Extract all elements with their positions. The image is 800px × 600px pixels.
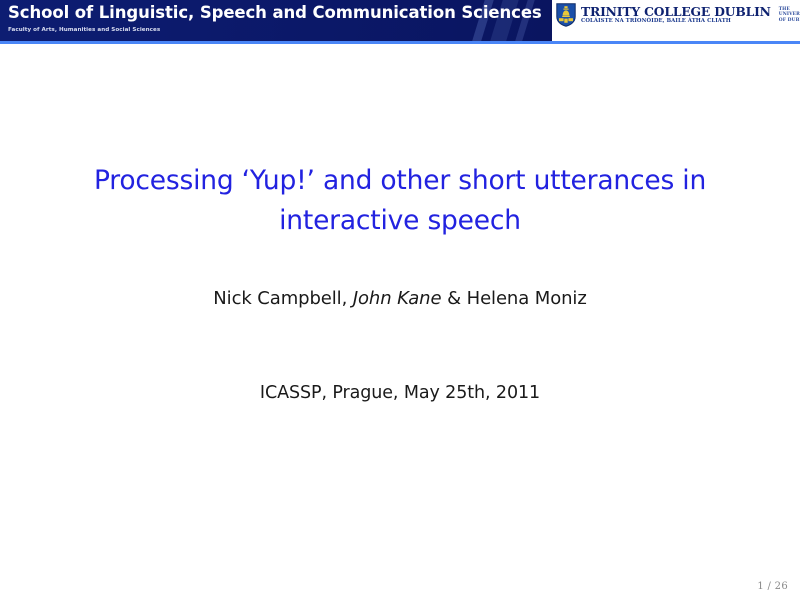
slide-title: Processing ‘Yup!’ and other short uttera… — [60, 161, 740, 241]
slide-title-line-2: interactive speech — [60, 201, 740, 241]
venue-line: ICASSP, Prague, May 25th, 2011 — [60, 383, 740, 403]
slide-body: Processing ‘Yup!’ and other short uttera… — [0, 44, 800, 600]
page-number: 1 / 26 — [757, 581, 788, 592]
authors-suffix: & Helena Moniz — [441, 288, 586, 309]
university-line-3: OF DUBLIN — [779, 18, 800, 24]
authors-line: Nick Campbell, John Kane & Helena Moniz — [60, 288, 740, 309]
authors-prefix: Nick Campbell, — [213, 288, 353, 309]
tcd-wordmark: TRINITY COLLEGE DUBLIN COLÁISTE NA TRÍON… — [581, 5, 771, 25]
school-title: School of Linguistic, Speech and Communi… — [8, 3, 542, 22]
faculty-subtitle: Faculty of Arts, Humanities and Social S… — [8, 27, 160, 33]
tcd-irish-name: COLÁISTE NA TRÍONÓIDE, BAILE ÁTHA CLIATH — [581, 18, 771, 25]
trinity-college-dublin-logo: TRINITY COLLEGE DUBLIN COLÁISTE NA TRÍON… — [556, 2, 800, 28]
university-of-dublin-mark: THE UNIVERSITY OF DUBLIN — [777, 7, 800, 24]
trinity-shield-crest-icon — [556, 3, 576, 27]
slide-title-line-1: Processing ‘Yup!’ and other short uttera… — [60, 161, 740, 201]
tcd-name: TRINITY COLLEGE DUBLIN — [581, 5, 771, 18]
slide-header: School of Linguistic, Speech and Communi… — [0, 0, 800, 41]
presentation-slide: School of Linguistic, Speech and Communi… — [0, 0, 800, 600]
author-john-kane: John Kane — [353, 288, 442, 309]
